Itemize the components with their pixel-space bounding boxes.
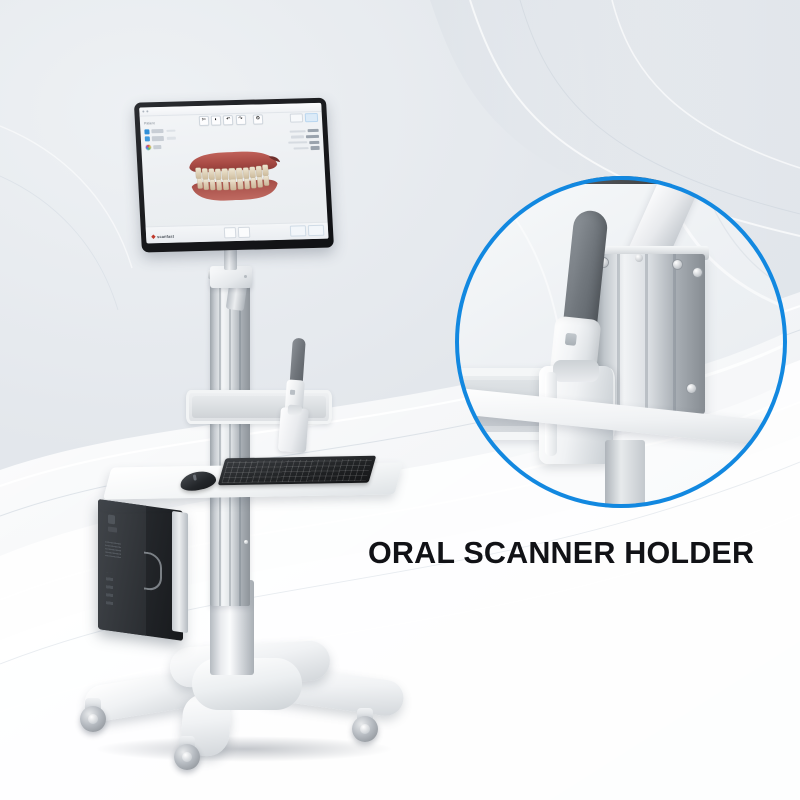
power-button-icon[interactable] <box>108 514 115 524</box>
info-value <box>308 129 319 133</box>
info-row <box>282 146 320 150</box>
holder-cradle[interactable] <box>278 407 309 453</box>
scanner-button-icon[interactable] <box>290 390 295 395</box>
monitor-screen[interactable]: ✄ ◐ ↶ ↷ ⚙ Patient <box>139 103 328 244</box>
tool-model-icon[interactable]: ⚙ <box>253 114 264 124</box>
mount-screw <box>244 275 247 278</box>
info-row <box>281 140 319 144</box>
oral-scanner-holder[interactable] <box>278 337 312 449</box>
left-panel: Patient <box>144 120 190 152</box>
tool-undo-icon[interactable]: ↶ <box>223 115 234 125</box>
detail-callout-content <box>455 176 787 508</box>
info-value <box>311 146 320 150</box>
tool-glyph: ⚙ <box>256 116 261 121</box>
view-buttons[interactable] <box>224 227 251 239</box>
jaw-row-upper[interactable] <box>144 128 188 134</box>
info-label <box>290 130 306 133</box>
info-label <box>291 136 304 139</box>
caster-hub <box>182 752 192 762</box>
base-floor-shadow <box>94 736 394 762</box>
caster-wheel-front[interactable] <box>174 736 200 770</box>
column-groove <box>617 254 620 414</box>
info-label <box>294 147 309 150</box>
patient-label: Patient <box>144 120 188 126</box>
app-status-bar: scanfast <box>146 222 329 244</box>
shade-row[interactable] <box>145 143 189 150</box>
column-screw <box>673 260 682 269</box>
info-value <box>309 140 319 144</box>
next-button[interactable] <box>308 225 325 236</box>
lower-post <box>605 440 645 508</box>
app-logo: scanfast <box>151 234 174 240</box>
pc-mount-bracket <box>172 511 188 633</box>
io-ports <box>106 572 113 605</box>
caster-wheel-left[interactable] <box>80 698 106 732</box>
vent-grille <box>105 540 121 558</box>
monitor-mount-neck <box>224 248 237 270</box>
mount-screw <box>635 254 643 262</box>
window-dot <box>146 110 148 112</box>
export-button[interactable] <box>290 225 307 236</box>
view-toggle-button[interactable] <box>290 113 303 122</box>
column-groove <box>229 276 231 606</box>
tool-glyph: ↷ <box>238 117 242 122</box>
dental-mobile-workstation-cart: ✄ ◐ ↶ ↷ ⚙ Patient <box>60 80 420 730</box>
jaw-row-lower[interactable] <box>145 135 189 141</box>
checkbox-icon[interactable] <box>145 136 150 141</box>
monitor: ✄ ◐ ↶ ↷ ⚙ Patient <box>134 98 334 253</box>
row-sub <box>167 137 176 140</box>
color-wheel-icon[interactable] <box>145 144 151 150</box>
monitor-bezel: ✄ ◐ ↶ ↷ ⚙ Patient <box>134 98 334 253</box>
caster-hub <box>88 714 98 724</box>
tool-trim-icon[interactable]: ✄ <box>199 115 210 125</box>
checkbox-icon[interactable] <box>144 129 149 134</box>
keyboard-keys <box>221 458 372 483</box>
caster-hub <box>360 724 370 734</box>
pc-tower[interactable] <box>98 499 183 641</box>
app-toolbar[interactable]: ✄ ◐ ↶ ↷ ⚙ <box>199 114 263 126</box>
cradle-slot <box>287 405 302 416</box>
column-groove <box>219 276 221 606</box>
tool-color-icon[interactable]: ◐ <box>211 115 222 125</box>
page-title: ORAL SCANNER HOLDER <box>368 537 798 569</box>
column-groove <box>645 254 648 414</box>
aluminium-column <box>210 276 250 606</box>
info-value <box>306 135 319 139</box>
info-label <box>288 141 307 144</box>
info-row <box>281 129 319 133</box>
info-row <box>281 135 319 139</box>
tool-redo-icon[interactable]: ↷ <box>235 114 246 124</box>
row-label <box>152 136 164 141</box>
tool-glyph: ◐ <box>215 118 218 123</box>
row-label <box>154 145 162 150</box>
column-screw <box>244 540 248 544</box>
pc-front-face <box>98 499 146 636</box>
action-buttons[interactable] <box>290 225 325 237</box>
poster-canvas: ✄ ◐ ↶ ↷ ⚙ Patient <box>0 0 800 800</box>
row-label <box>152 129 164 134</box>
view-analysis-button[interactable] <box>238 227 251 238</box>
column-groove <box>673 254 676 414</box>
detail-callout <box>455 176 787 508</box>
logo-mark-icon <box>151 234 156 239</box>
logo-text: scanfast <box>157 234 174 239</box>
window-dot <box>142 110 144 112</box>
tool-glyph: ✄ <box>202 118 206 123</box>
scanner-wand-tip <box>290 338 306 385</box>
tool-glyph: ↶ <box>226 117 230 122</box>
column-groove <box>239 276 241 606</box>
view-grid-button[interactable] <box>224 227 237 238</box>
capture-button[interactable] <box>305 112 318 121</box>
column-screw <box>693 268 702 277</box>
right-info-panel <box>281 129 320 153</box>
drive-slot <box>108 526 117 532</box>
scanner-button-icon[interactable] <box>565 333 577 346</box>
scanner-wand-tip <box>563 209 609 330</box>
3d-dental-arch-model[interactable] <box>180 146 288 206</box>
pc-handle <box>144 551 162 592</box>
caster-wheel-right[interactable] <box>352 708 378 742</box>
keyboard[interactable] <box>218 456 377 486</box>
cradle-slot <box>553 360 599 382</box>
mouse-scroll-wheel[interactable] <box>193 474 197 480</box>
window-controls[interactable] <box>142 110 148 112</box>
column-screw <box>687 384 696 393</box>
toolbar-right-buttons[interactable] <box>290 112 318 122</box>
accessory-tray-basket <box>186 390 332 424</box>
row-sub <box>166 129 175 132</box>
